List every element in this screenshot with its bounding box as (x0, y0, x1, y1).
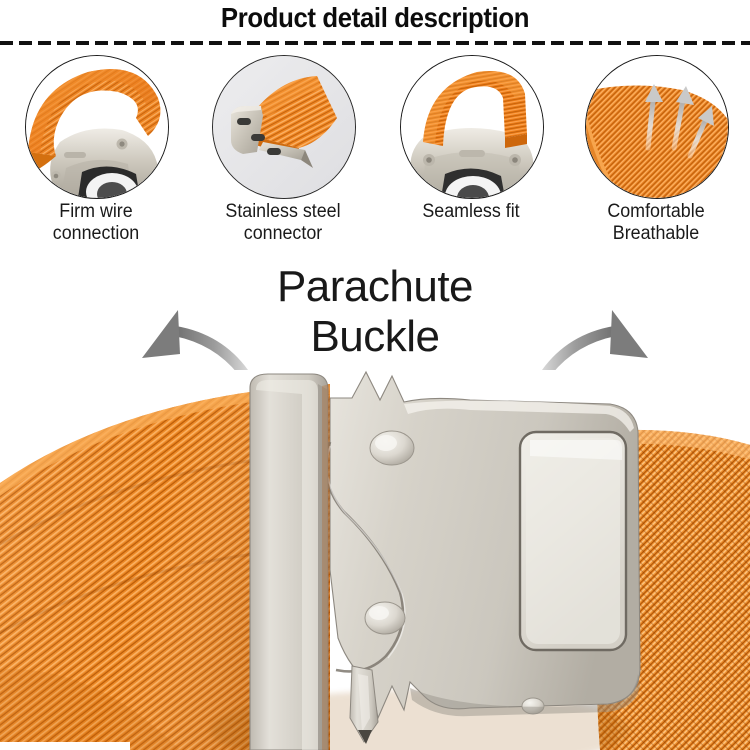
dashed-divider (0, 41, 750, 45)
seamless-fit-illustration (401, 56, 543, 198)
firm-wire-connection-illustration (26, 56, 168, 198)
feature-caption-comfortable-breathable: Comfortable Breathable (562, 201, 750, 245)
caption-line-2: Breathable (562, 223, 750, 245)
hero-image-parachute-buckle (0, 370, 750, 750)
stainless-steel-connector-illustration (213, 56, 355, 198)
arrow-left-icon (130, 298, 250, 378)
caption-line-1: Seamless fit (377, 201, 565, 223)
caption-line-1: Firm wire (2, 201, 190, 223)
feature-item-stainless-steel-connector: Stainless steel connector (189, 55, 377, 255)
feature-item-firm-wire-connection: Firm wire connection (2, 55, 190, 255)
parachute-buckle (250, 372, 640, 750)
feature-image-stainless-steel-connector (212, 55, 356, 199)
feature-image-seamless-fit (400, 55, 544, 199)
caption-line-1: Stainless steel (189, 201, 377, 223)
feature-caption-firm-wire-connection: Firm wire connection (2, 201, 190, 245)
comfortable-breathable-illustration (586, 56, 728, 198)
parachute-buckle-photo (0, 370, 750, 750)
product-detail-page: Product detail description (0, 0, 750, 750)
feature-caption-stainless-steel-connector: Stainless steel connector (189, 201, 377, 245)
caption-line-2: connection (2, 223, 190, 245)
caption-line-2: connector (189, 223, 377, 245)
feature-item-seamless-fit: Seamless fit (377, 55, 565, 255)
feature-image-comfortable-breathable (585, 55, 729, 199)
feature-caption-seamless-fit: Seamless fit (377, 201, 565, 223)
arrow-right-icon (540, 298, 660, 378)
feature-item-comfortable-breathable: Comfortable Breathable (562, 55, 750, 255)
page-title: Product detail description (30, 2, 720, 34)
feature-row: Firm wire connection (0, 55, 750, 255)
feature-image-firm-wire-connection (25, 55, 169, 199)
caption-line-1: Comfortable (562, 201, 750, 223)
